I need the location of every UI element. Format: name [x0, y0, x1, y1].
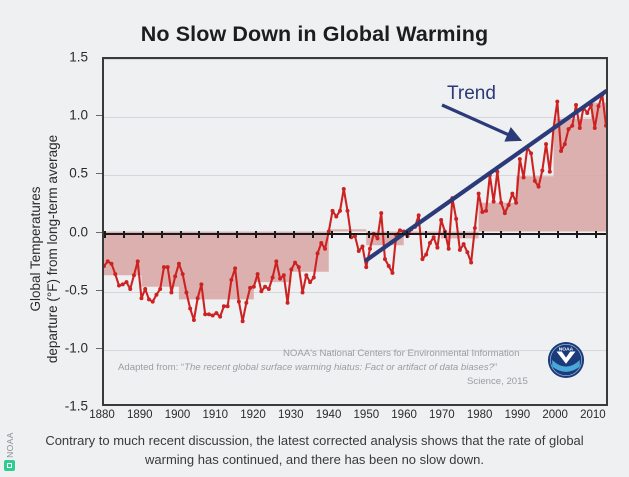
data-point-marker	[211, 313, 215, 317]
data-point-marker	[383, 257, 387, 261]
data-point-marker	[274, 259, 278, 263]
data-point-marker	[316, 251, 320, 255]
axis-tick	[331, 231, 333, 238]
data-point-marker	[207, 312, 211, 316]
data-point-marker	[454, 217, 458, 221]
data-point-marker	[368, 247, 372, 251]
data-point-marker	[420, 257, 424, 261]
data-point-marker	[147, 297, 151, 301]
data-point-marker	[286, 301, 290, 305]
data-point-marker	[259, 289, 263, 293]
data-point-marker	[121, 282, 125, 286]
x-tick-label: 1970	[429, 409, 455, 421]
x-tick-label: 1890	[127, 409, 153, 421]
x-tick-label: 2000	[542, 409, 568, 421]
axis-tick	[180, 231, 182, 238]
x-tick-label: 1930	[278, 409, 304, 421]
data-point-marker	[563, 142, 567, 146]
data-point-marker	[282, 273, 286, 277]
data-point-marker	[331, 209, 335, 213]
data-point-marker	[222, 304, 226, 308]
data-point-marker	[462, 242, 466, 246]
y-axis: -1.5-1.0-0.50.00.51.01.5	[0, 0, 96, 477]
x-tick-label: 1950	[354, 409, 380, 421]
data-point-marker	[233, 266, 237, 270]
y-tick-label: 0.0	[69, 224, 88, 239]
data-point-marker	[597, 104, 601, 108]
chart-caption: Contrary to much recent discussion, the …	[40, 431, 589, 469]
data-point-marker	[139, 296, 143, 300]
axis-tick	[368, 231, 370, 238]
data-point-marker	[166, 265, 170, 269]
axis-tick	[595, 231, 597, 238]
data-point-marker	[136, 259, 140, 263]
data-point-marker	[293, 261, 297, 265]
data-point-marker	[432, 235, 436, 239]
data-point-marker	[499, 201, 503, 205]
x-tick-label: 1980	[467, 409, 493, 421]
data-point-marker	[113, 272, 117, 276]
data-point-marker	[319, 241, 323, 245]
data-point-marker	[559, 149, 563, 153]
data-point-marker	[117, 284, 121, 288]
data-point-marker	[312, 276, 316, 280]
data-point-marker	[237, 300, 241, 304]
data-point-marker	[346, 209, 350, 213]
data-point-marker	[364, 265, 368, 269]
data-point-marker	[390, 271, 394, 275]
data-point-marker	[484, 209, 488, 213]
x-tick-label: 1990	[505, 409, 531, 421]
data-point-marker	[544, 142, 548, 146]
data-point-marker	[256, 272, 260, 276]
data-point-marker	[151, 300, 155, 304]
data-point-marker	[106, 259, 110, 263]
data-point-marker	[177, 262, 181, 266]
y-tick-label: 0.5	[69, 166, 88, 181]
data-point-marker	[218, 315, 222, 319]
y-tick-label: 1.5	[69, 50, 88, 65]
data-point-marker	[289, 267, 293, 271]
data-point-marker	[387, 264, 391, 268]
data-point-marker	[537, 185, 541, 189]
data-point-marker	[124, 280, 128, 284]
noaa-logo-text: NOAA	[559, 347, 574, 353]
x-tick-label: 1920	[240, 409, 266, 421]
data-point-marker	[241, 319, 245, 323]
data-point-marker	[477, 192, 481, 196]
axis-tick	[104, 231, 106, 238]
data-point-marker	[267, 287, 271, 291]
axis-tick	[217, 231, 219, 238]
data-point-marker	[199, 282, 203, 286]
data-point-marker	[188, 307, 192, 311]
data-point-marker	[184, 290, 188, 294]
data-point-marker	[492, 200, 496, 204]
citation-suffix: ”	[494, 362, 497, 373]
data-point-marker	[143, 287, 147, 291]
axis-tick	[406, 231, 408, 238]
data-point-marker	[353, 234, 357, 238]
axis-tick	[538, 231, 540, 238]
attribution-source: NOAA's National Centers for Environmenta…	[283, 348, 519, 359]
data-point-marker	[570, 124, 574, 128]
axis-tick	[349, 231, 351, 238]
data-point-marker	[514, 201, 518, 205]
data-point-marker	[158, 287, 162, 291]
data-point-marker	[473, 226, 477, 230]
data-point-marker	[128, 287, 132, 291]
data-point-marker	[480, 210, 484, 214]
axis-tick	[387, 231, 389, 238]
axis-tick	[463, 231, 465, 238]
data-point-marker	[522, 175, 526, 179]
data-point-marker	[338, 209, 342, 213]
data-point-marker	[301, 290, 305, 294]
data-point-marker	[173, 274, 177, 278]
x-tick-label: 1900	[165, 409, 191, 421]
axis-tick	[519, 231, 521, 238]
y-tick-label: -1.5	[65, 399, 88, 414]
citation-title: The recent global surface warming hiatus…	[184, 362, 494, 373]
caption-line1: Contrary to much recent discussion, the …	[45, 433, 531, 448]
x-tick-label: 1940	[316, 409, 342, 421]
data-point-marker	[192, 318, 196, 322]
data-point-marker	[154, 293, 158, 297]
axis-tick	[198, 231, 200, 238]
citation-prefix: Adapted from: “	[118, 362, 184, 373]
data-point-marker	[578, 126, 582, 130]
data-point-marker	[465, 250, 469, 254]
axis-tick	[236, 231, 238, 238]
data-point-marker	[342, 187, 346, 191]
data-point-marker	[585, 111, 589, 115]
axis-tick	[161, 231, 163, 238]
data-point-marker	[540, 169, 544, 173]
data-point-marker	[181, 272, 185, 276]
data-point-marker	[162, 265, 166, 269]
trend-arrow-icon	[430, 95, 540, 155]
x-tick-label: 1960	[391, 409, 417, 421]
data-point-marker	[510, 192, 514, 196]
noaa-watermark: NOAA	[2, 424, 18, 474]
axis-tick	[274, 231, 276, 238]
data-point-marker	[548, 170, 552, 174]
data-point-marker	[334, 215, 338, 219]
data-point-marker	[567, 127, 571, 131]
data-point-marker	[252, 285, 256, 289]
x-tick-label: 2010	[580, 409, 606, 421]
data-point-marker	[169, 290, 173, 294]
data-point-marker	[263, 285, 267, 289]
data-point-marker	[229, 278, 233, 282]
data-point-marker	[308, 280, 312, 284]
x-tick-label: 1880	[89, 409, 115, 421]
data-point-marker	[379, 211, 383, 215]
data-point-marker	[435, 246, 439, 250]
data-point-marker	[424, 253, 428, 257]
y-tick-label: -1.0	[65, 340, 88, 355]
axis-tick	[576, 231, 578, 238]
axis-tick	[255, 231, 257, 238]
data-point-marker	[533, 179, 537, 183]
data-point-marker	[507, 203, 511, 207]
data-point-marker	[555, 100, 559, 104]
data-point-marker	[278, 277, 282, 281]
data-point-marker	[203, 312, 207, 316]
data-point-marker	[469, 261, 473, 265]
data-point-marker	[361, 244, 365, 248]
data-point-marker	[357, 249, 361, 253]
axis-tick	[293, 231, 295, 238]
data-point-marker	[518, 157, 522, 161]
data-point-marker	[428, 241, 432, 245]
axis-tick	[142, 231, 144, 238]
data-point-marker	[323, 247, 327, 251]
data-point-marker	[196, 296, 200, 300]
y-tick-label: 1.0	[69, 108, 88, 123]
data-point-marker	[439, 218, 443, 222]
data-point-marker	[271, 276, 275, 280]
attribution-journal: Science, 2015	[467, 376, 528, 387]
axis-tick	[425, 231, 427, 238]
data-point-marker	[214, 311, 218, 315]
data-point-marker	[297, 265, 301, 269]
data-point-marker	[110, 262, 114, 266]
data-point-marker	[458, 248, 462, 252]
data-point-marker	[574, 103, 578, 107]
data-point-marker	[375, 236, 379, 240]
data-point-marker	[447, 247, 451, 251]
axis-tick	[444, 231, 446, 238]
noaa-logo: NOAA	[547, 341, 585, 379]
axis-tick	[557, 231, 559, 238]
data-point-marker	[226, 304, 230, 308]
x-tick-label: 1910	[202, 409, 228, 421]
data-point-marker	[503, 211, 507, 215]
watermark-badge-icon	[4, 460, 15, 471]
data-point-marker	[132, 273, 136, 277]
chart-page: No Slow Down in Global Warming Global Te…	[0, 0, 629, 477]
axis-tick	[123, 231, 125, 238]
data-point-marker	[244, 301, 248, 305]
data-point-marker	[593, 126, 597, 130]
axis-tick	[482, 231, 484, 238]
attribution-citation: Adapted from: “The recent global surface…	[118, 362, 497, 373]
axis-tick	[312, 231, 314, 238]
data-point-marker	[248, 286, 252, 290]
axis-tick	[500, 231, 502, 238]
data-point-marker	[417, 213, 421, 217]
data-point-marker	[304, 273, 308, 277]
y-tick-label: -0.5	[65, 282, 88, 297]
